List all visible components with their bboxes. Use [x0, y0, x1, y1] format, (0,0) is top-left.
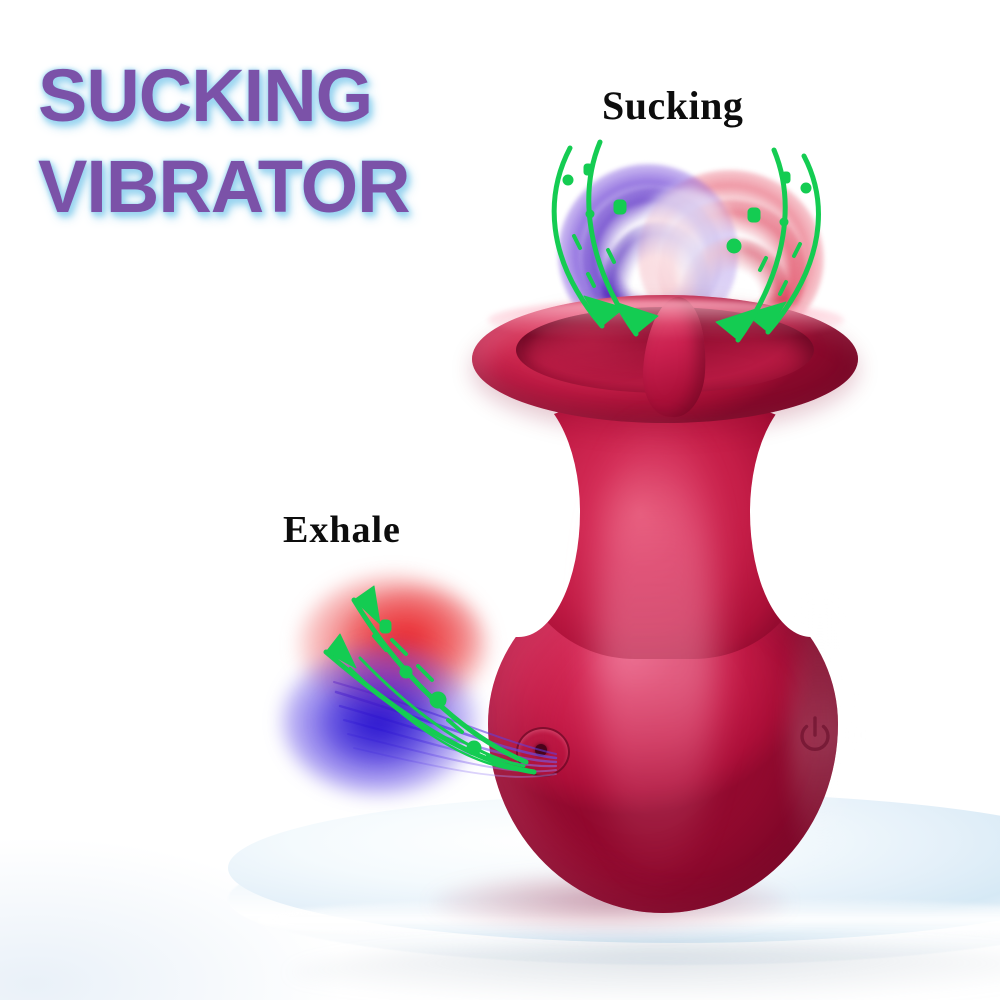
pedestal-drop-shadow [288, 943, 1000, 1000]
exhale-smoke-blend [332, 633, 452, 719]
headline-line-2: VIBRATOR [38, 153, 508, 222]
callout-label-exhale: Exhale [283, 508, 401, 552]
page-title: SUCKING VIBRATOR [38, 62, 508, 222]
device-flared-mouth [472, 295, 858, 435]
power-icon[interactable] [794, 713, 836, 763]
headline-line-1: SUCKING [38, 62, 508, 131]
callout-label-sucking: Sucking [602, 82, 743, 129]
mouth-rim-highlight [488, 300, 844, 340]
device-body-gloss [596, 415, 716, 885]
product-graphic-canvas: SUCKING VIBRATOR [0, 0, 1000, 1000]
exhale-cloud-effect [280, 575, 560, 795]
